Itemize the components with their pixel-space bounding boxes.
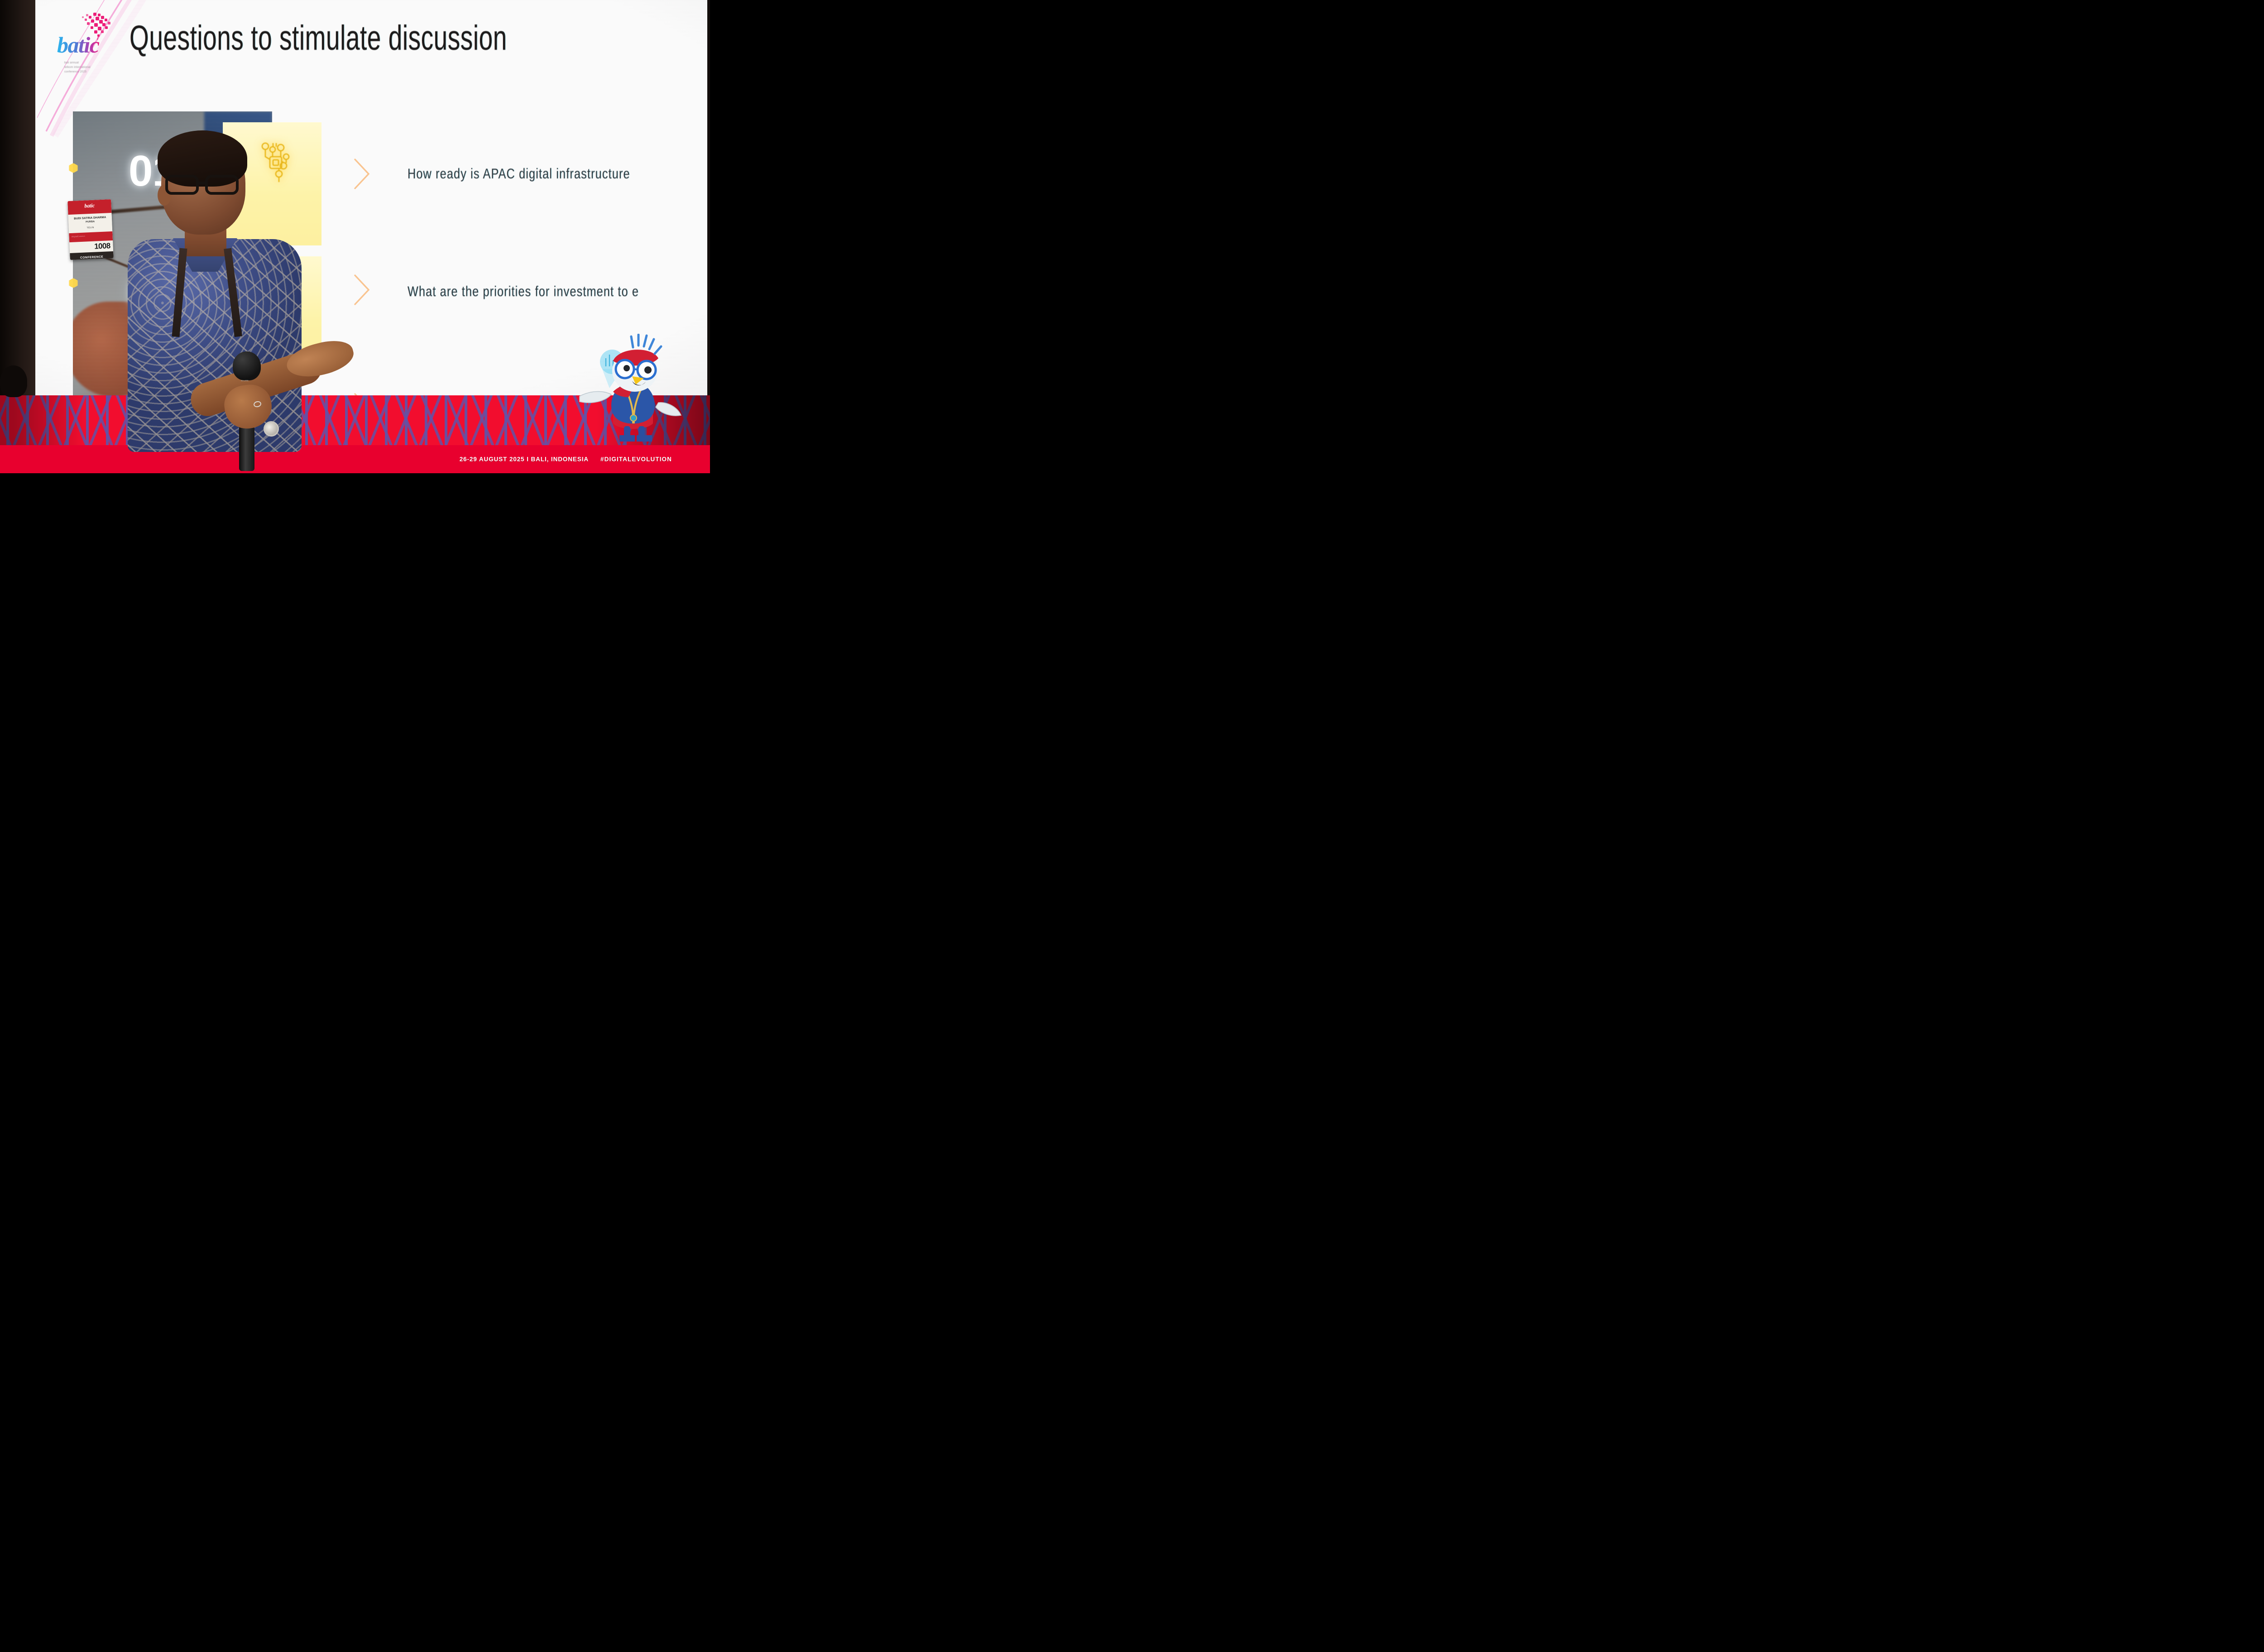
event-footer-bar: 26-29 AUGUST 2025 I BALI, INDONESIA #DIG…	[0, 445, 710, 473]
conference-badge: batic BUDI SATRIA DHARMA PURBA TELIN #Di…	[67, 199, 114, 260]
eyeglasses-icon	[165, 173, 240, 196]
badge-number: 1008	[94, 242, 110, 250]
slide-question-2: What are the priorities for investment t…	[408, 283, 639, 300]
badge-identity: BUDI SATRIA DHARMA PURBA TELIN	[68, 213, 113, 233]
chevron-right-icon-2	[352, 274, 371, 306]
batic-tagline: bali annual telkom international confere…	[64, 61, 128, 74]
audience-silhouette	[0, 365, 27, 397]
speaker-figure: SHURE	[118, 131, 308, 448]
batic-bird-mascot	[574, 334, 682, 442]
footer-dates-location: 26-29 AUGUST 2025 I BALI, INDONESIA	[460, 456, 589, 463]
badge-red-strip: #DigitalEvolution	[69, 231, 113, 242]
badge-batic-logo: batic	[84, 202, 95, 210]
batic-logo: batic bali annual telkom international c…	[56, 12, 129, 86]
footer-hashtag: #DIGITALEVOLUTION	[600, 456, 672, 463]
badge-header: batic	[67, 199, 111, 215]
badge-organization: TELIN	[71, 226, 110, 230]
svg-text:batic: batic	[57, 32, 100, 58]
microphone-brand-label: SHURE	[241, 379, 249, 382]
chevron-right-icon-1	[352, 158, 371, 190]
badge-hashtag: #DigitalEvolution	[72, 235, 85, 237]
batic-wordmark: batic	[56, 31, 124, 60]
microphone-head	[233, 351, 261, 380]
conference-presentation-photo: batic bali annual telkom international c…	[0, 0, 710, 473]
slide-title: Questions to stimulate discussion	[130, 20, 507, 57]
slide-question-1: How ready is APAC digital infrastructure	[408, 166, 630, 182]
